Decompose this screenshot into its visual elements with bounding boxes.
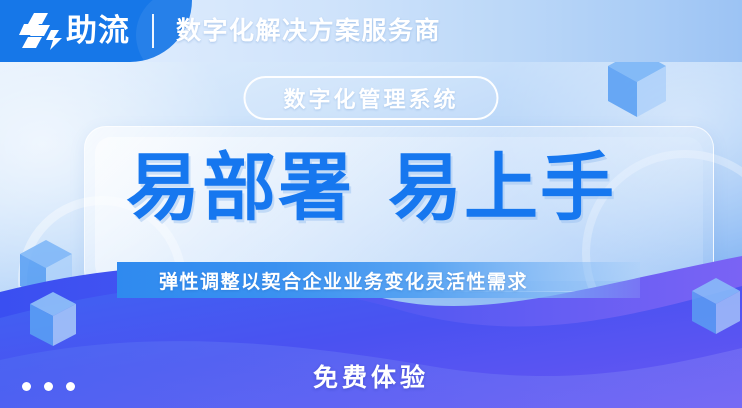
header-divider [152, 14, 154, 48]
system-name-pill: 数字化管理系统 [243, 76, 498, 120]
carousel-dot[interactable] [22, 382, 31, 391]
system-name-label: 数字化管理系统 [283, 82, 458, 114]
carousel-dot[interactable] [44, 382, 53, 391]
header-slogan: 数字化解决方案服务商 [176, 13, 441, 49]
banner-header: 助流 数字化解决方案服务商 [0, 0, 742, 62]
promo-banner: 助流 数字化解决方案服务商 数字化管理系统 易部署 易上手 弹性调整以契合企业业… [0, 0, 742, 408]
tagline-label: 弹性调整以契合企业业务变化灵活性需求 [159, 267, 528, 294]
carousel-dot[interactable] [66, 382, 75, 391]
brand-name: 助流 [66, 11, 130, 51]
carousel-dots[interactable] [22, 382, 75, 391]
cta-label: 免费体验 [313, 364, 429, 392]
tagline-bar: 弹性调整以契合企业业务变化灵活性需求 [117, 262, 640, 298]
zhuliu-lightning-logo-icon [18, 11, 64, 51]
cta-free-trial[interactable]: 免费体验 [0, 358, 742, 394]
